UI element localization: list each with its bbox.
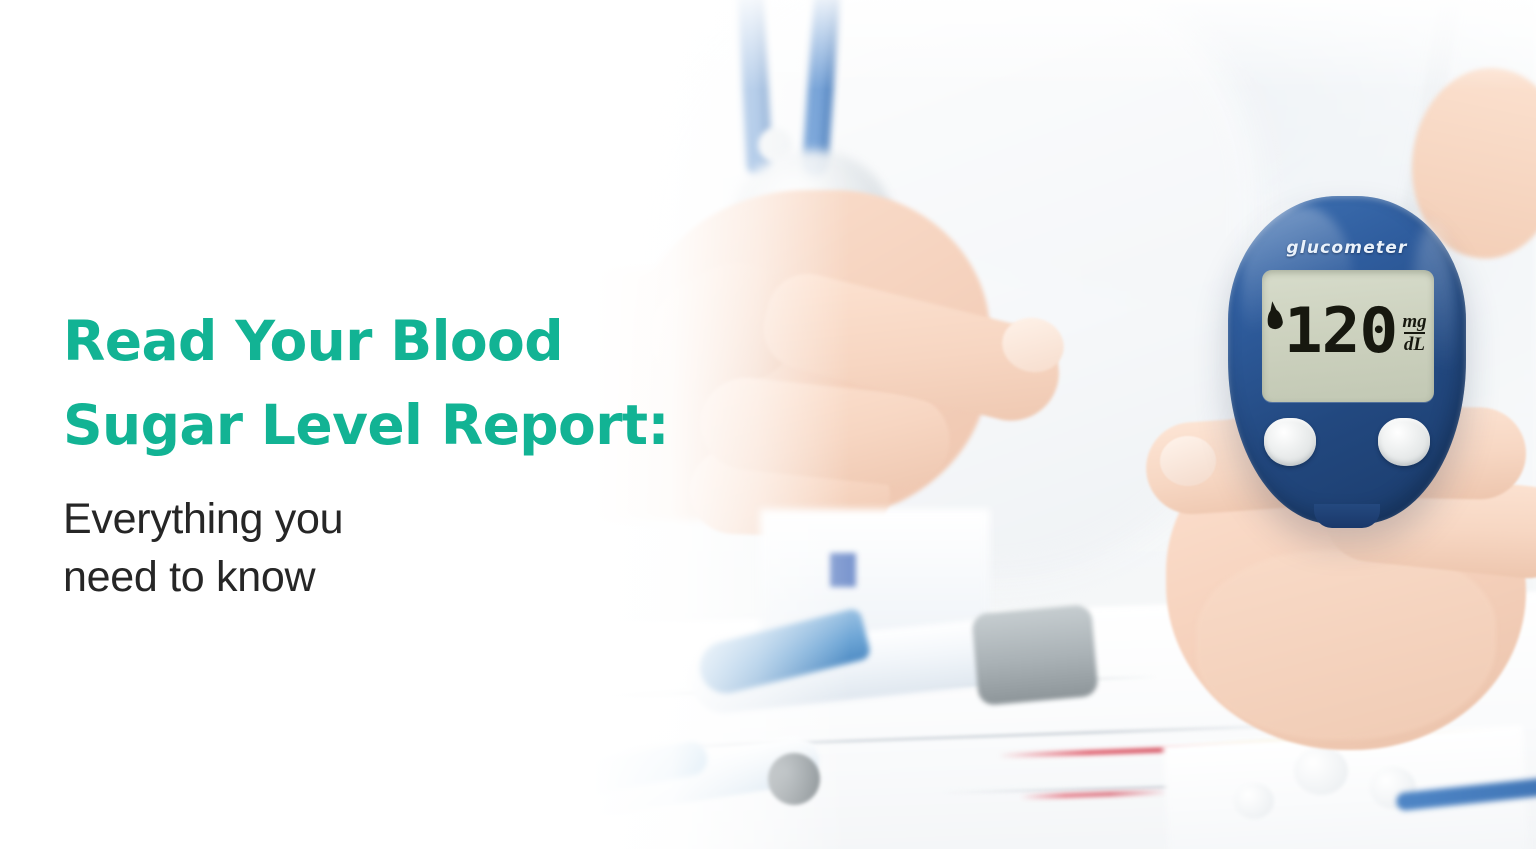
test-strip-box [760, 509, 990, 639]
blood-drop-icon [1266, 308, 1284, 330]
glucometer-lcd-screen: 120 mg dL [1262, 270, 1434, 402]
reading-unit: mg dL [1402, 312, 1426, 355]
headline-line-2: Sugar Level Report: [63, 384, 743, 468]
holding-hand-fingernail [1160, 436, 1216, 486]
lcd-reading-row: 120 mg dL [1262, 300, 1434, 362]
unit-numerator: mg [1402, 312, 1426, 332]
headline-line-1: Read Your Blood [63, 300, 743, 384]
holding-hand-knuckles [1196, 550, 1496, 740]
device-button-right[interactable] [1378, 418, 1430, 466]
banner-text-block: Read Your Blood Sugar Level Report: Ever… [63, 300, 743, 606]
subheadline-line-2: need to know [63, 549, 743, 607]
device-strip-port [1314, 504, 1380, 528]
blood-glucose-reading: 120 [1284, 300, 1397, 362]
test-strip-box-label [830, 553, 856, 587]
device-button-left[interactable] [1264, 418, 1316, 466]
device-button-row [1228, 418, 1466, 466]
subheadline-line-1: Everything you [63, 491, 743, 549]
device-brand-label: glucometer [1228, 238, 1466, 258]
unit-denominator: dL [1404, 332, 1425, 355]
lancing-device-grey-cap [971, 604, 1099, 706]
blood-sugar-banner: glucometer 120 mg dL Read You [0, 0, 1536, 849]
second-lancing-device-cap [768, 753, 820, 805]
glucometer-device[interactable]: glucometer 120 mg dL [1228, 196, 1466, 524]
